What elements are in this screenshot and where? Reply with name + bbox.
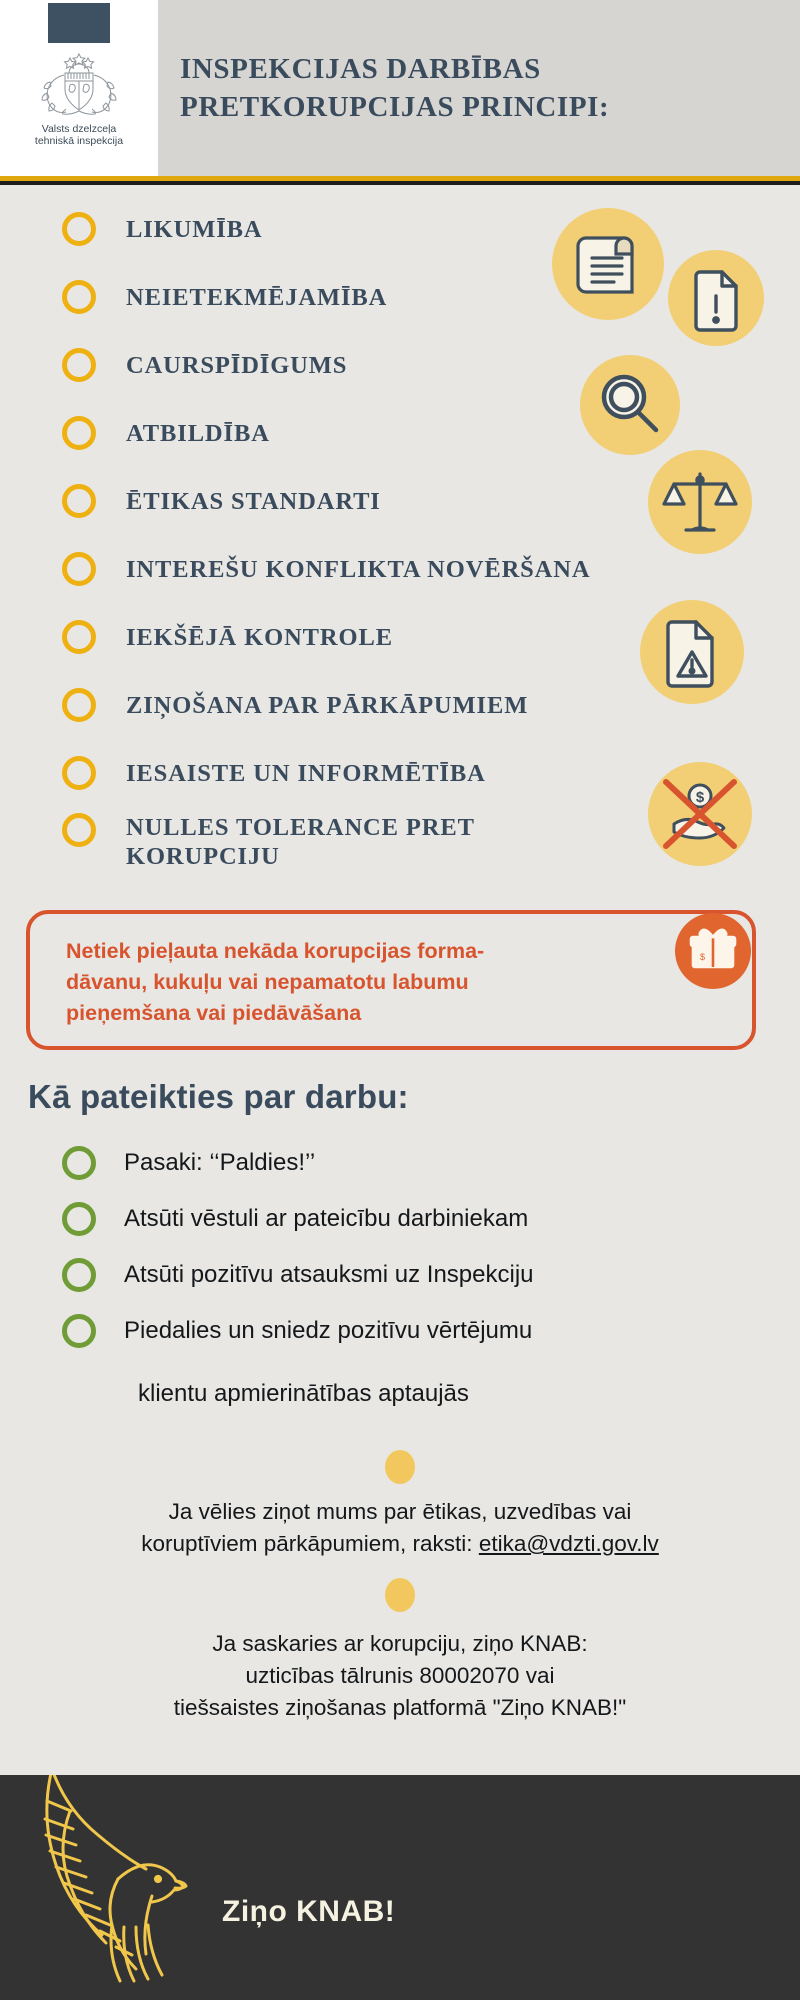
page-title: INSPEKCIJAS DARBĪBAS PRETKORUPCIJAS PRIN… [158,0,800,176]
principle-label: ATBILDĪBA [126,419,270,448]
bullet-ring-icon [62,484,96,518]
principle-label: LIKUMĪBA [126,215,263,244]
list-item: ZIŅOŠANA PAR PĀRKĀPUMIEM [0,671,800,739]
header: Valsts dzelzceļa tehniskā inspekcija INS… [0,0,800,176]
thanks-label: Atsūti pozitīvu atsauksmi uz Inspekciju [124,1260,534,1290]
list-item: CAURSPĪDĪGUMS [0,331,800,399]
principle-label: IESAISTE UN INFORMĒTĪBA [126,759,486,788]
bullet-ring-icon [62,1258,96,1292]
footer-brand: Ziņo KNAB! [222,1895,395,1929]
principle-label-line-1: NULLES TOLERANCE PRET [126,814,475,841]
bullet-ring-icon [62,688,96,722]
list-item: Pasaki: ‘‘Paldies!’’ [0,1135,800,1191]
latvian-coat-of-arms-icon [40,49,118,120]
warning-text: Netiek pieļauta nekāda korupcijas forma-… [66,936,666,1029]
knab-line-2: uzticības tālrunis 80002070 vai [0,1660,800,1692]
list-item: IEKŠĒJĀ KONTROLE [0,603,800,671]
principle-label-line-2: KORUPCIJU [126,843,280,870]
contact-line-2: koruptīviem pārkāpumiem, raksti: etika@v… [0,1528,800,1560]
bullet-ring-icon [62,620,96,654]
list-item: NEIETEKMĒJAMĪBA [0,263,800,331]
thanks-label: Piedalies un sniedz pozitīvu vērtējumu [124,1316,532,1346]
list-item: ATBILDĪBA [0,399,800,467]
contact-block-email: Ja vēlies ziņot mums par ētikas, uzvedīb… [0,1496,800,1560]
knab-bird-icon [8,1775,223,2000]
thanks-list: Pasaki: ‘‘Paldies!’’ Atsūti vēstuli ar p… [0,1135,800,1359]
contact-block-knab: Ja saskaries ar korupciju, ziņo KNAB: uz… [0,1628,800,1724]
list-item: IESAISTE UN INFORMĒTĪBA [0,739,800,807]
thanks-section-title: Kā pateikties par darbu: [28,1078,409,1116]
bullet-ring-icon [62,416,96,450]
warning-line-2: dāvanu, kukuļu vai nepamatotu labumu [66,967,666,998]
knab-line-3: tiešsaistes ziņošanas platformā "Ziņo KN… [0,1692,800,1724]
organization-logo: Valsts dzelzceļa tehniskā inspekcija [0,0,158,176]
principle-label: CAURSPĪDĪGUMS [126,351,347,380]
bullet-ring-icon [62,756,96,790]
corruption-warning-box: Netiek pieļauta nekāda korupcijas forma-… [26,910,756,1050]
title-line-1: INSPEKCIJAS DARBĪBAS [180,50,790,88]
footer: Ziņo KNAB! [0,1775,800,2000]
list-item: Atsūti vēstuli ar pateicību darbiniekam [0,1191,800,1247]
svg-text:$: $ [700,952,705,962]
bullet-ring-icon [62,1146,96,1180]
bullet-ring-icon [62,813,96,847]
thanks-label: Atsūti vēstuli ar pateicību darbiniekam [124,1204,528,1234]
list-item: Piedalies un sniedz pozitīvu vērtējumu [0,1303,800,1359]
bullet-ring-icon [62,1314,96,1348]
separator-dot [385,1578,415,1612]
list-item: LIKUMĪBA [0,195,800,263]
list-item: INTEREŠU KONFLIKTA NOVĒRŠANA [0,535,800,603]
principle-label: IEKŠĒJĀ KONTROLE [126,623,393,652]
infographic-poster: Valsts dzelzceļa tehniskā inspekcija INS… [0,0,800,2000]
principle-label: NULLES TOLERANCE PRET KORUPCIJU [126,813,475,871]
contact-line-1: Ja vēlies ziņot mums par ētikas, uzvedīb… [0,1496,800,1528]
thanks-continuation: klientu apmierinātības aptaujās [138,1380,469,1408]
principles-list: LIKUMĪBA NEIETEKMĒJAMĪBA CAURSPĪDĪGUMS A… [0,195,800,885]
principle-label: ĒTIKAS STANDARTI [126,487,381,516]
organization-name: Valsts dzelzceļa tehniskā inspekcija [35,124,123,147]
bullet-ring-icon [62,348,96,382]
separator-dot [385,1450,415,1484]
principle-label: INTEREŠU KONFLIKTA NOVĒRŠANA [126,555,590,584]
bullet-ring-icon [62,280,96,314]
thanks-label: Pasaki: ‘‘Paldies!’’ [124,1148,315,1178]
logo-accent-bar [48,3,110,43]
list-item: ĒTIKAS STANDARTI [0,467,800,535]
org-name-line-1: Valsts dzelzceļa [35,124,123,136]
dark-divider [0,181,800,185]
org-name-line-2: tehniskā inspekcija [35,136,123,148]
gift-box-icon: $ [675,913,751,989]
title-line-2: PRETKORUPCIJAS PRINCIPI: [180,88,790,126]
contact-line-2-prefix: koruptīviem pārkāpumiem, raksti: [141,1531,479,1556]
principle-label: ZIŅOŠANA PAR PĀRKĀPUMIEM [126,691,528,720]
warning-line-1: Netiek pieļauta nekāda korupcijas forma- [66,936,666,967]
email-link[interactable]: etika@vdzti.gov.lv [479,1531,659,1556]
bullet-ring-icon [62,552,96,586]
bullet-ring-icon [62,1202,96,1236]
warning-line-3: pieņemšana vai piedāvāšana [66,998,666,1029]
principle-label: NEIETEKMĒJAMĪBA [126,283,387,312]
knab-line-1: Ja saskaries ar korupciju, ziņo KNAB: [0,1628,800,1660]
bullet-ring-icon [62,212,96,246]
list-item: Atsūti pozitīvu atsauksmi uz Inspekciju [0,1247,800,1303]
list-item: NULLES TOLERANCE PRET KORUPCIJU [0,807,800,885]
